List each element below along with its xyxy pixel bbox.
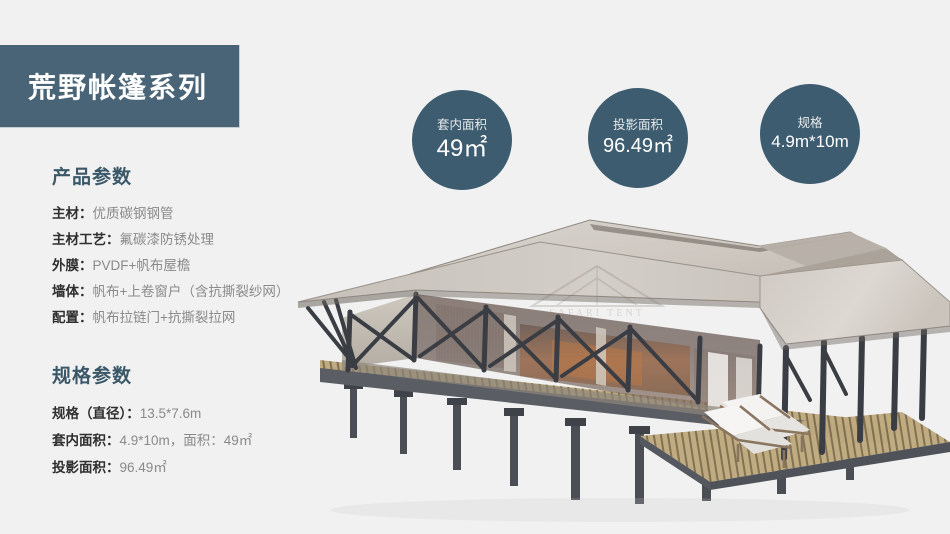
param-value: 氟碳漆防锈处理 [120, 232, 215, 247]
param-label: 规格（直径）： [52, 406, 140, 421]
stat-circle-interior-area: 套内面积 49㎡ [412, 90, 512, 190]
page-title: 荒野帐篷系列 [28, 66, 208, 106]
param-label: 套内面积： [52, 433, 120, 448]
param-value: PVDF+帆布屋檐 [93, 258, 191, 273]
product-params-heading: 产品参数 [52, 162, 342, 189]
param-label: 墙体： [52, 284, 93, 299]
param-label: 外膜： [52, 258, 93, 273]
param-value: 13.5*7.6m [140, 406, 202, 421]
param-value: 优质碳钢钢管 [93, 206, 174, 221]
stat-value: 96.49㎡ [603, 136, 673, 157]
param-label: 投影面积： [52, 460, 120, 475]
param-value: 帆布拉链门+抗撕裂拉网 [93, 310, 236, 325]
ground-shadow [330, 498, 910, 522]
param-value: 帆布+上卷窗户（含抗撕裂纱网） [93, 284, 290, 299]
stat-circle-projected-area: 投影面积 96.49㎡ [588, 88, 688, 188]
param-value: 96.49㎡ [120, 460, 167, 475]
stat-label: 规格 [797, 117, 822, 131]
param-label: 配置： [52, 310, 93, 325]
stat-circle-specification: 规格 4.9m*10m [760, 84, 860, 184]
param-label: 主材工艺： [52, 232, 120, 247]
tent-rendering: SAFARI TENT [290, 190, 950, 534]
stat-label: 套内面积 [437, 119, 487, 133]
stat-label: 投影面积 [613, 119, 663, 133]
stat-value: 49㎡ [437, 136, 488, 161]
tent-rendering-graphic [290, 190, 950, 534]
page-root: 荒野帐篷系列 产品参数 主材：优质碳钢钢管 主材工艺：氟碳漆防锈处理 外膜：PV… [0, 0, 950, 534]
stat-value: 4.9m*10m [771, 133, 848, 151]
param-value: 4.9*10m，面积：49㎡ [120, 433, 253, 448]
param-label: 主材： [52, 206, 93, 221]
title-banner: 荒野帐篷系列 [0, 45, 240, 128]
